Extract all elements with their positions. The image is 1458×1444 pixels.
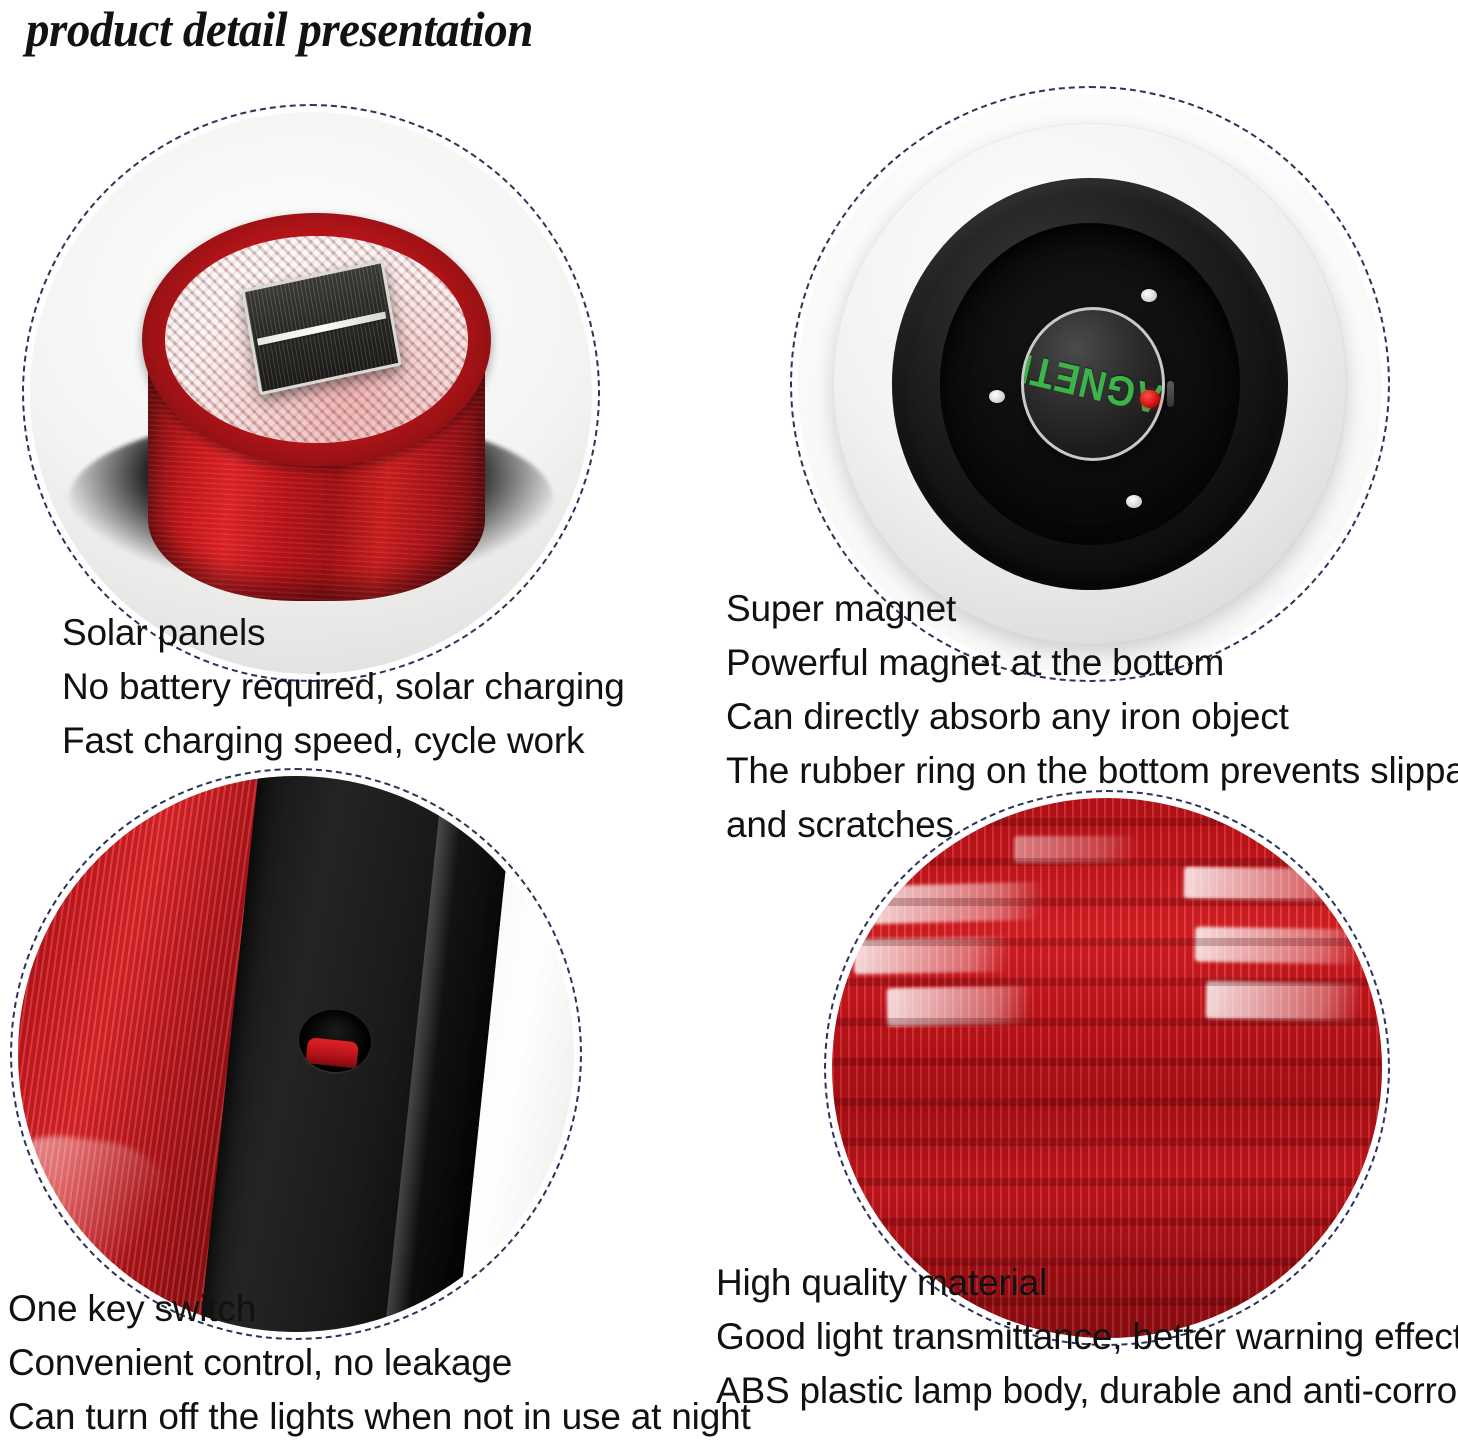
lamp-outer-shell: MAGNETIC — [833, 123, 1347, 645]
photo-clip-switch — [18, 776, 574, 1332]
feature-heading-solar: Solar panels — [62, 606, 625, 660]
photo-bubble-solar-panels — [22, 104, 600, 682]
lens-gloss-highlight — [865, 882, 1042, 924]
red-push-button — [305, 1036, 359, 1067]
screw-hole-icon — [1141, 289, 1157, 302]
contact-slot — [1167, 381, 1174, 407]
lens-gloss-highlight — [887, 986, 1031, 1026]
feature-line-magnet-2: Can directly absorb any iron object — [726, 690, 1458, 744]
magnet-recess: MAGNETIC — [940, 223, 1241, 545]
screw-hole-icon — [989, 390, 1005, 403]
feature-line-magnet-4: and scratches — [726, 798, 1458, 852]
photo-bubble-one-key-switch — [10, 768, 582, 1340]
feature-heading-magnet: Super magnet — [726, 582, 1458, 636]
page-title: product detail presentation — [26, 0, 533, 60]
feature-line-switch-1: Convenient control, no leakage — [8, 1336, 751, 1390]
rubber-ring: MAGNETIC — [892, 178, 1288, 590]
led-indicator-dot — [1140, 390, 1160, 408]
feature-text-super-magnet: Super magnet Powerful magnet at the bott… — [726, 582, 1458, 852]
feature-line-material-1: Good light transmittance, better warning… — [716, 1310, 1458, 1364]
lamp-top-rim — [142, 213, 490, 466]
screw-hole-icon — [1126, 495, 1142, 508]
feature-line-magnet-3: The rubber ring on the bottom prevents s… — [726, 744, 1458, 798]
magnetic-label: MAGNETIC — [1021, 337, 1165, 430]
feature-text-one-key-switch: One key switch Convenient control, no le… — [8, 1282, 751, 1444]
lens-gloss-highlight — [854, 937, 1009, 975]
magnet-disc: MAGNETIC — [1021, 307, 1165, 461]
solar-panel-photo — [30, 112, 592, 674]
feature-line-material-2: ABS plastic lamp body, durable and anti-… — [716, 1364, 1458, 1418]
feature-line-magnet-1: Powerful magnet at the bottom — [726, 636, 1458, 690]
lens-gloss-highlight — [1184, 867, 1350, 902]
one-key-switch-photo — [18, 776, 574, 1332]
lens-gloss-highlight — [1195, 926, 1361, 964]
feature-line-solar-2: Fast charging speed, cycle work — [62, 714, 625, 768]
lens-gloss-highlight — [1206, 980, 1361, 1020]
feature-text-high-quality-material: High quality material Good light transmi… — [716, 1256, 1458, 1418]
feature-line-switch-2: Can turn off the lights when not in use … — [8, 1390, 751, 1444]
feature-line-solar-1: No battery required, solar charging — [62, 660, 625, 714]
photo-clip-solar — [30, 112, 592, 674]
feature-heading-material: High quality material — [716, 1256, 1458, 1310]
feature-text-solar-panels: Solar panels No battery required, solar … — [62, 606, 625, 768]
feature-heading-switch: One key switch — [8, 1282, 751, 1336]
